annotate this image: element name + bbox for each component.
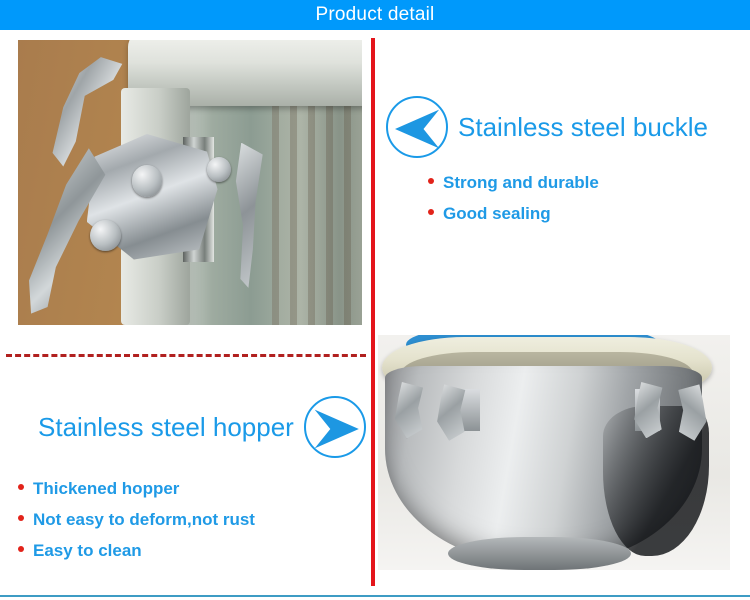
list-item-label: Easy to clean — [33, 542, 142, 559]
hopper-base-ring — [448, 537, 631, 570]
stainless-steel-buckle-photo — [18, 40, 362, 325]
buckle-pivot-bolt — [90, 220, 121, 251]
product-detail-header: Product detail — [0, 0, 750, 30]
list-item: Easy to clean — [18, 542, 370, 559]
buckle-pivot-bolt — [132, 165, 163, 196]
arrow-left-icon — [386, 96, 448, 158]
buckle-section-title: Stainless steel buckle — [458, 113, 708, 142]
hopper-section-title: Stainless steel hopper — [38, 413, 294, 442]
list-item: Thickened hopper — [18, 480, 370, 497]
stainless-steel-hopper-photo — [378, 335, 730, 570]
hopper-heading-row: Stainless steel hopper — [10, 396, 370, 458]
page-title: Product detail — [316, 0, 435, 30]
buckle-text-block: Stainless steel buckle Strong and durabl… — [386, 96, 746, 236]
bullet-icon — [18, 484, 24, 490]
hopper-text-block: Stainless steel hopper Thickened hopper … — [10, 396, 370, 573]
bullet-icon — [18, 546, 24, 552]
list-item: Good sealing — [428, 205, 746, 222]
vertical-divider — [371, 38, 375, 586]
bullet-icon — [18, 515, 24, 521]
buckle-feature-list: Strong and durable Good sealing — [428, 174, 746, 222]
bottom-rule — [0, 595, 750, 597]
list-item-label: Not easy to deform,not rust — [33, 511, 255, 528]
list-item-label: Strong and durable — [443, 174, 599, 191]
horizontal-dashed-divider — [6, 354, 366, 357]
list-item: Not easy to deform,not rust — [18, 511, 370, 528]
list-item: Strong and durable — [428, 174, 746, 191]
hopper-feature-list: Thickened hopper Not easy to deform,not … — [18, 480, 370, 559]
buckle-heading-row: Stainless steel buckle — [386, 96, 746, 158]
arrow-right-icon — [304, 396, 366, 458]
list-item-label: Good sealing — [443, 205, 551, 222]
bullet-icon — [428, 178, 434, 184]
bullet-icon — [428, 209, 434, 215]
list-item-label: Thickened hopper — [33, 480, 179, 497]
